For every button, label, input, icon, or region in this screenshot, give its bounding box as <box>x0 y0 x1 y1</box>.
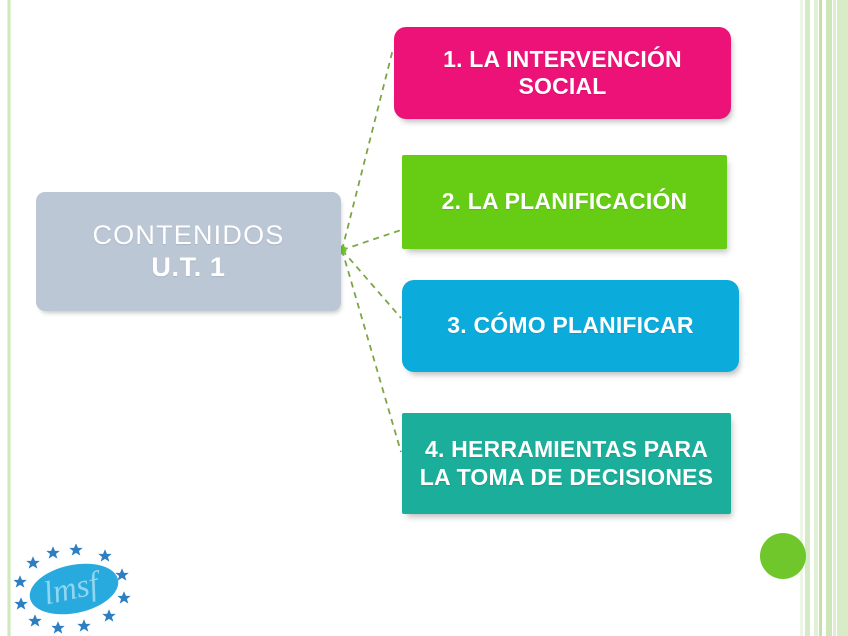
branch-node-4-label: 4. HERRAMIENTAS PARA LA TOMA DE DECISION… <box>402 436 731 490</box>
branch-node-1-label: 1. LA INTERVENCIÓN SOCIAL <box>394 46 731 100</box>
contenidos-line-1: CONTENIDOS <box>92 220 284 252</box>
contenidos-node-label: CONTENIDOS U.T. 1 <box>82 220 294 284</box>
connector-to-branch-3 <box>342 250 401 318</box>
right-edge-stripes <box>796 0 848 636</box>
branch-node-2-label: 2. LA PLANIFICACIÓN <box>432 188 698 215</box>
connector-to-branch-4 <box>342 250 401 452</box>
lmsf-logo: lmsf <box>14 544 138 636</box>
branch-node-2-la-planificacion[interactable]: 2. LA PLANIFICACIÓN <box>402 155 727 249</box>
slide-canvas: CONTENIDOS U.T. 1 1. LA INTERVENCIÓN SOC… <box>0 0 848 636</box>
branch-node-3-label: 3. CÓMO PLANIFICAR <box>437 312 703 339</box>
connector-to-branch-2 <box>342 230 401 250</box>
left-edge-rule <box>7 0 11 636</box>
contenidos-line-2: U.T. 1 <box>92 252 284 284</box>
branch-node-3-como-planificar[interactable]: 3. CÓMO PLANIFICAR <box>402 280 739 372</box>
contenidos-node[interactable]: CONTENIDOS U.T. 1 <box>36 192 341 311</box>
branch-node-1-la-intervencion-social[interactable]: 1. LA INTERVENCIÓN SOCIAL <box>394 27 731 119</box>
green-circle-decoration <box>760 533 806 579</box>
branch-node-4-herramientas-toma-decisiones[interactable]: 4. HERRAMIENTAS PARA LA TOMA DE DECISION… <box>402 413 731 514</box>
connector-to-branch-1 <box>342 49 393 250</box>
